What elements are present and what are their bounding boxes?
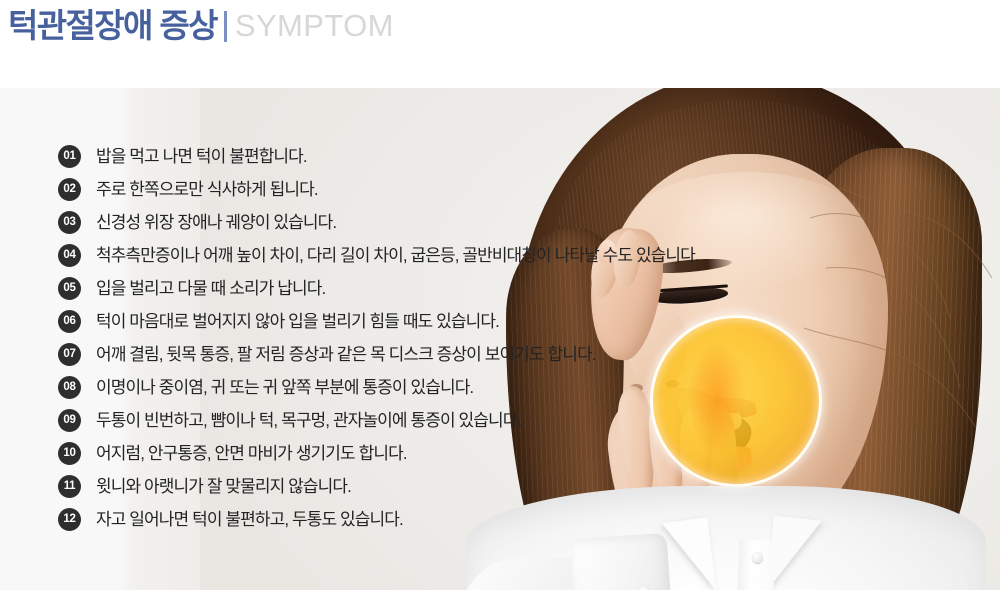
symptom-text: 어지럼, 안구통증, 안면 마비가 생기기도 합니다. [96, 442, 407, 465]
symptom-number-badge: 10 [58, 442, 81, 465]
symptom-number-badge: 05 [58, 277, 81, 300]
symptom-text: 자고 일어나면 턱이 불편하고, 두통도 있습니다. [96, 508, 403, 531]
symptom-text: 입을 벌리고 다물 때 소리가 납니다. [96, 277, 325, 300]
list-item: 07 어깨 결림, 뒷목 통증, 팔 저림 증상과 같은 목 디스크 증상이 보… [58, 343, 596, 366]
shirt-collar-left [662, 517, 717, 590]
list-item: 01 밥을 먹고 나면 턱이 불편합니다. [58, 145, 307, 168]
symptom-text: 윗니와 아랫니가 잘 맞물리지 않습니다. [96, 475, 351, 498]
list-item: 02 주로 한쪽으로만 식사하게 됩니다. [58, 178, 318, 201]
shirt-placket [737, 539, 775, 590]
symptom-number-badge: 03 [58, 211, 81, 234]
symptom-text: 척추측만증이나 어깨 높이 차이, 다리 길이 차이, 굽은등, 골반비대칭이 … [96, 244, 699, 267]
symptom-number-badge: 01 [58, 145, 81, 168]
symptom-text: 신경성 위장 장애나 궤양이 있습니다. [96, 211, 336, 234]
symptom-number-badge: 02 [58, 178, 81, 201]
symptom-text: 턱이 마음대로 벌어지지 않아 입을 벌리기 힘들 때도 있습니다. [96, 310, 499, 333]
list-item: 08 이명이나 중이염, 귀 또는 귀 앞쪽 부분에 통증이 있습니다. [58, 376, 473, 399]
page-title: 턱관절장애 증상 SYMPTOM [8, 6, 394, 46]
symptom-text: 어깨 결림, 뒷목 통증, 팔 저림 증상과 같은 목 디스크 증상이 보이기도… [96, 343, 596, 366]
symptom-text: 밥을 먹고 나면 턱이 불편합니다. [96, 145, 307, 168]
symptom-number-badge: 09 [58, 409, 81, 432]
page-header: 턱관절장애 증상 SYMPTOM [0, 0, 1000, 88]
symptom-number-badge: 12 [58, 508, 81, 531]
shirt-button [752, 552, 763, 563]
symptom-text: 두통이 빈번하고, 뺨이나 턱, 목구멍, 관자놀이에 통증이 있습니다. [96, 409, 521, 432]
page-title-english: SYMPTOM [235, 6, 394, 46]
list-item: 09 두통이 빈번하고, 뺨이나 턱, 목구멍, 관자놀이에 통증이 있습니다. [58, 409, 521, 432]
symptom-number-badge: 06 [58, 310, 81, 333]
symptom-infographic-page: 턱관절장애 증상 SYMPTOM [0, 0, 1000, 590]
pain-highlight-circle [650, 315, 822, 487]
symptom-number-badge: 08 [58, 376, 81, 399]
hair-wisps-icon [800, 178, 1000, 478]
list-item: 10 어지럼, 안구통증, 안면 마비가 생기기도 합니다. [58, 442, 407, 465]
symptom-text: 주로 한쪽으로만 식사하게 됩니다. [96, 178, 318, 201]
symptom-number-badge: 04 [58, 244, 81, 267]
list-item: 03 신경성 위장 장애나 궤양이 있습니다. [58, 211, 336, 234]
list-item: 05 입을 벌리고 다물 때 소리가 납니다. [58, 277, 325, 300]
list-item: 12 자고 일어나면 턱이 불편하고, 두통도 있습니다. [58, 508, 403, 531]
symptom-text: 이명이나 중이염, 귀 또는 귀 앞쪽 부분에 통증이 있습니다. [96, 376, 473, 399]
title-divider-icon [224, 11, 227, 42]
highlight-ring-icon [650, 315, 822, 487]
list-item: 11 윗니와 아랫니가 잘 맞물리지 않습니다. [58, 475, 351, 498]
list-item: 06 턱이 마음대로 벌어지지 않아 입을 벌리기 힘들 때도 있습니다. [58, 310, 499, 333]
symptom-number-badge: 07 [58, 343, 81, 366]
symptom-number-badge: 11 [58, 475, 81, 498]
list-item: 04 척추측만증이나 어깨 높이 차이, 다리 길이 차이, 굽은등, 골반비대… [58, 244, 699, 267]
woman-photo [470, 88, 1000, 590]
shirt-cuff [570, 533, 673, 590]
page-title-korean: 턱관절장애 증상 [8, 6, 217, 46]
